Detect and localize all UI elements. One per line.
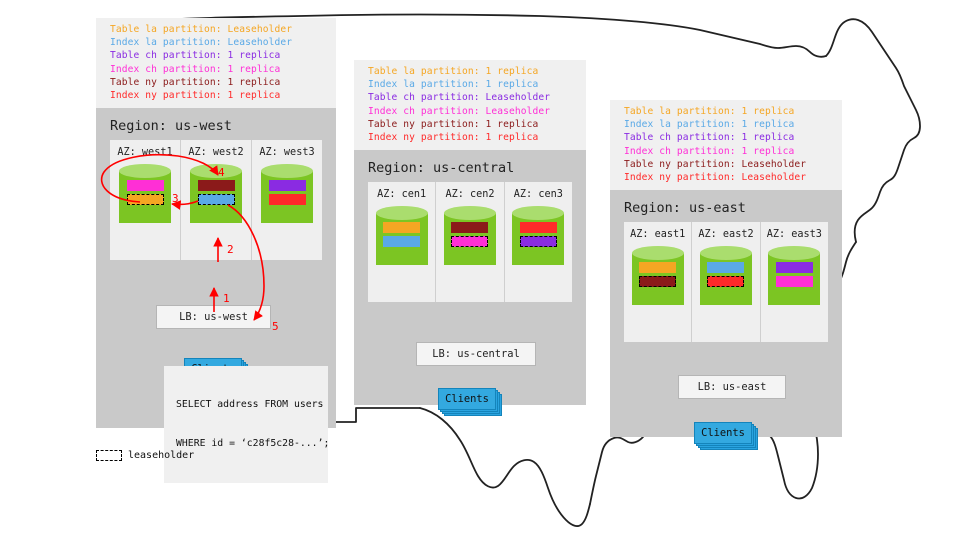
- replica-bar: [707, 262, 744, 273]
- region-title-us-west: Region: us-west: [96, 108, 336, 140]
- az-west2: AZ: west2: [180, 140, 251, 260]
- legend-line: Index la partition: 1 replica: [368, 78, 576, 91]
- legend-line: Index ch partition: 1 replica: [624, 145, 832, 158]
- sql-line-2: WHERE id = ‘c28f5c28-...’;: [176, 437, 318, 450]
- leaseholder-key-label: leaseholder: [128, 450, 194, 461]
- replica-bar-leaseholder: [198, 194, 235, 205]
- clients-label-us-central: Clients: [438, 388, 496, 410]
- database-node-icon: [512, 206, 564, 272]
- range-replicas: [376, 222, 428, 247]
- legend-line: Index ch partition: Leaseholder: [368, 105, 576, 118]
- replica-bar: [269, 180, 306, 191]
- replica-bar-leaseholder: [451, 236, 488, 247]
- region-us-central: Table la partition: 1 replicaIndex la pa…: [354, 60, 586, 405]
- replica-bar: [269, 194, 306, 205]
- legend-line: Index ny partition: 1 replica: [110, 89, 326, 102]
- range-replicas: [632, 262, 684, 287]
- az-strip-us-central: AZ: cen1AZ: cen2AZ: cen3: [368, 182, 572, 302]
- replica-bar: [127, 180, 164, 191]
- replica-bar-leaseholder: [707, 276, 744, 287]
- legend-line: Table ny partition: Leaseholder: [624, 158, 832, 171]
- sql-line-1: SELECT address FROM users: [176, 398, 318, 411]
- region-title-us-east: Region: us-east: [610, 190, 842, 222]
- az-label: AZ: cen3: [514, 189, 563, 200]
- az-label: AZ: cen1: [377, 189, 426, 200]
- legend-line: Table la partition: Leaseholder: [110, 23, 326, 36]
- legend-line: Index la partition: Leaseholder: [110, 36, 326, 49]
- legend-line: Index ny partition: Leaseholder: [624, 171, 832, 184]
- legend-line: Table la partition: 1 replica: [368, 65, 576, 78]
- step-number-3: 3: [172, 192, 179, 205]
- range-replicas: [700, 262, 752, 287]
- replica-bar: [198, 180, 235, 191]
- legend-line: Table ch partition: 1 replica: [110, 49, 326, 62]
- replica-bar: [639, 262, 676, 273]
- legend-line: Index ny partition: 1 replica: [368, 131, 576, 144]
- step-number-5: 5: [272, 320, 279, 333]
- legend-line: Table ch partition: 1 replica: [624, 131, 832, 144]
- az-cen1: AZ: cen1: [368, 182, 435, 302]
- range-replicas: [119, 180, 171, 205]
- region-title-us-central: Region: us-central: [354, 150, 586, 182]
- range-replicas: [444, 222, 496, 247]
- replica-bar: [776, 262, 813, 273]
- database-node-icon: [444, 206, 496, 272]
- az-east1: AZ: east1: [624, 222, 691, 342]
- range-replicas: [190, 180, 242, 205]
- region-us-east: Table la partition: 1 replicaIndex la pa…: [610, 100, 842, 437]
- region-legend-us-west: Table la partition: LeaseholderIndex la …: [96, 18, 336, 108]
- legend-line: Table ny partition: 1 replica: [110, 76, 326, 89]
- region-body-us-central: Region: us-central AZ: cen1AZ: cen2AZ: c…: [354, 150, 586, 405]
- load-balancer-us-east[interactable]: LB: us-east: [678, 375, 786, 399]
- database-node-icon: [376, 206, 428, 272]
- range-replicas: [261, 180, 313, 205]
- legend-line: Index la partition: 1 replica: [624, 118, 832, 131]
- replica-bar-leaseholder: [127, 194, 164, 205]
- region-legend-us-central: Table la partition: 1 replicaIndex la pa…: [354, 60, 586, 150]
- replica-bar-leaseholder: [639, 276, 676, 287]
- az-west1: AZ: west1: [110, 140, 180, 260]
- az-label: AZ: east2: [698, 229, 753, 240]
- range-replicas: [512, 222, 564, 247]
- az-strip-us-east: AZ: east1AZ: east2AZ: east3: [624, 222, 828, 342]
- step-number-2: 2: [227, 243, 234, 256]
- clients-us-east[interactable]: Clients: [694, 422, 756, 448]
- dashed-rect-icon: [96, 450, 122, 461]
- legend-line: Table ny partition: 1 replica: [368, 118, 576, 131]
- az-label: AZ: west2: [188, 147, 243, 158]
- database-node-icon: [632, 246, 684, 312]
- legend-line: Index ch partition: 1 replica: [110, 63, 326, 76]
- replica-bar: [776, 276, 813, 287]
- database-node-icon: [119, 164, 171, 230]
- legend-line: Table ch partition: Leaseholder: [368, 91, 576, 104]
- database-node-icon: [768, 246, 820, 312]
- database-node-icon: [190, 164, 242, 230]
- replica-bar: [451, 222, 488, 233]
- replica-bar: [383, 236, 420, 247]
- replica-bar: [383, 222, 420, 233]
- sql-query-note: SELECT address FROM users WHERE id = ‘c2…: [164, 366, 328, 483]
- az-cen2: AZ: cen2: [435, 182, 503, 302]
- diagram-canvas: Table la partition: LeaseholderIndex la …: [0, 0, 960, 540]
- clients-label-us-east: Clients: [694, 422, 752, 444]
- az-east2: AZ: east2: [691, 222, 759, 342]
- az-label: AZ: west3: [259, 147, 314, 158]
- database-node-icon: [700, 246, 752, 312]
- range-replicas: [768, 262, 820, 287]
- load-balancer-us-west[interactable]: LB: us-west: [156, 305, 271, 329]
- region-legend-us-east: Table la partition: 1 replicaIndex la pa…: [610, 100, 842, 190]
- az-label: AZ: east3: [767, 229, 822, 240]
- leaseholder-key: leaseholder: [96, 450, 194, 461]
- az-east3: AZ: east3: [760, 222, 828, 342]
- database-node-icon: [261, 164, 313, 230]
- az-label: AZ: cen2: [445, 189, 494, 200]
- step-number-1: 1: [223, 292, 230, 305]
- az-cen3: AZ: cen3: [504, 182, 572, 302]
- replica-bar-leaseholder: [520, 236, 557, 247]
- legend-line: Table la partition: 1 replica: [624, 105, 832, 118]
- replica-bar: [520, 222, 557, 233]
- step-number-4: 4: [218, 166, 225, 179]
- load-balancer-us-central[interactable]: LB: us-central: [416, 342, 536, 366]
- clients-us-central[interactable]: Clients: [438, 388, 500, 414]
- az-label: AZ: east1: [630, 229, 685, 240]
- az-west3: AZ: west3: [251, 140, 322, 260]
- region-body-us-east: Region: us-east AZ: east1AZ: east2AZ: ea…: [610, 190, 842, 437]
- az-strip-us-west: AZ: west1AZ: west2AZ: west3: [110, 140, 322, 260]
- az-label: AZ: west1: [117, 147, 172, 158]
